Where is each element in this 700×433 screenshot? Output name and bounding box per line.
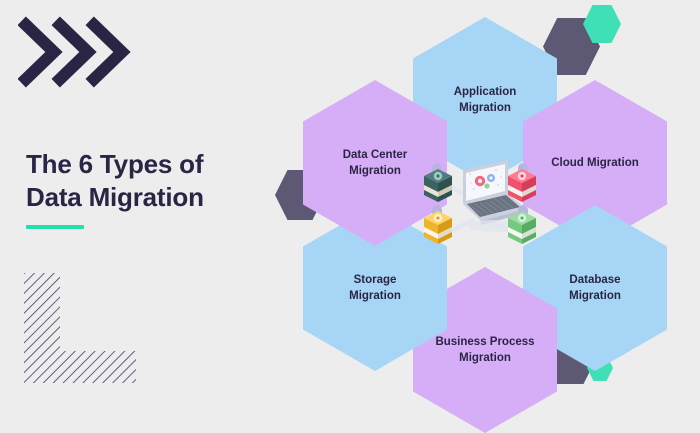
title-accent-bar [26,225,84,229]
hexagon-label-data-center-migration: Data Center Migration [335,147,416,180]
laptop-with-four-servers-network-diagram [420,152,540,256]
server-top-left-icon [424,163,452,202]
hexagon-label-application-migration: Application Migration [446,84,525,117]
hexagon-label-cloud-migration: Cloud Migration [543,155,647,171]
infographic-canvas: The 6 Types of Data Migration Ap [0,0,700,400]
page-title: The 6 Types of Data Migration [26,148,276,229]
diagonal-hatch-l-shape-icon [24,273,136,383]
triple-chevron-right-icon [18,16,133,88]
left-panel: The 6 Types of Data Migration [0,0,300,400]
server-top-right-icon [508,163,536,202]
title-line-2: Data Migration [26,181,276,214]
hexagon-label-business-process-migration: Business Process Migration [427,334,542,367]
title-line-1: The 6 Types of [26,148,276,181]
server-bottom-left-icon [424,205,452,244]
hexagon-label-database-migration: Database Migration [561,272,629,305]
hexagon-label-storage-migration: Storage Migration [341,272,409,305]
